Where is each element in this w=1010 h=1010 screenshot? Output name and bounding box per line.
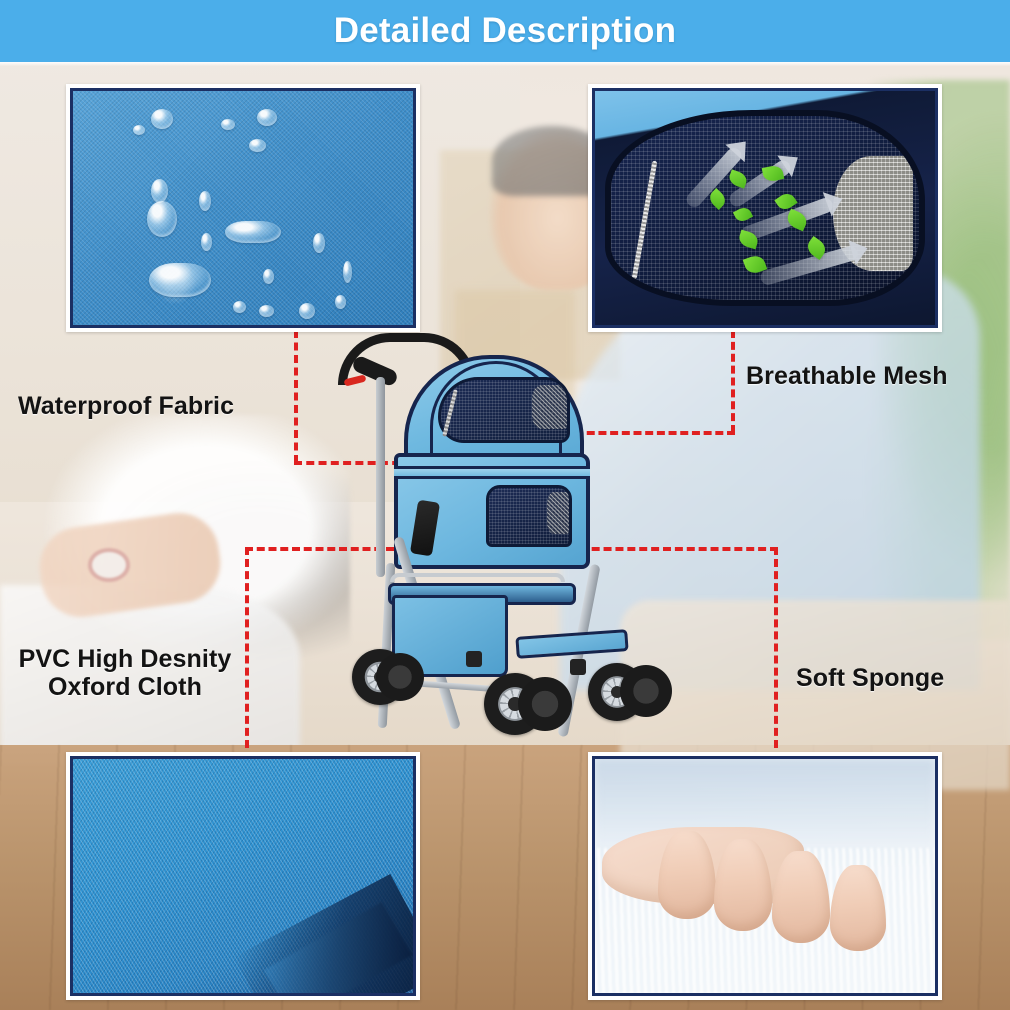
callout-label-soft-sponge: Soft Sponge <box>796 664 944 692</box>
waterproof-fabric-image <box>73 91 413 325</box>
water-droplet <box>343 261 352 283</box>
connector-segment-vertical <box>731 330 735 433</box>
stroller-wheel-front-right-twin <box>620 665 672 717</box>
mesh-highlight <box>532 385 567 429</box>
connector-segment-vertical <box>245 547 249 760</box>
sponge-photo <box>588 752 942 1000</box>
stroller-wheel-rear-left-twin <box>376 653 424 701</box>
stroller-basket-support-bar <box>390 573 565 582</box>
page-title: Detailed Description <box>334 11 676 51</box>
stroller-rear-post <box>376 377 385 577</box>
photo-frame <box>70 88 416 328</box>
header-underline <box>0 62 1010 66</box>
callout-label-line-1: PVC High Desnity <box>10 645 240 673</box>
water-droplet <box>151 109 173 129</box>
header-banner: Detailed Description <box>0 0 1010 62</box>
photo-frame <box>70 756 416 996</box>
water-droplet <box>263 269 274 284</box>
water-droplet <box>225 221 281 243</box>
water-droplet <box>257 109 277 126</box>
oxford-cloth-photo <box>66 752 420 1000</box>
water-droplet <box>335 295 346 309</box>
callout-label-line-2: Oxford Cloth <box>10 673 240 701</box>
breathable-mesh-image <box>595 91 935 325</box>
stroller-wheel-front-left-twin <box>518 677 572 731</box>
water-droplet <box>313 233 325 253</box>
water-droplet <box>299 303 315 319</box>
water-droplet <box>151 179 168 203</box>
fabric-weave-texture <box>73 91 413 325</box>
mesh-panel <box>605 110 925 307</box>
stroller-top-mesh-window <box>438 377 570 443</box>
callout-label-waterproof-fabric: Waterproof Fabric <box>18 392 234 420</box>
water-droplet <box>149 263 211 297</box>
callout-label-breathable-mesh: Breathable Mesh <box>746 362 948 390</box>
oxford-cloth-image <box>73 759 413 993</box>
photo-frame <box>592 88 938 328</box>
background-wristwatch <box>88 548 130 582</box>
infographic-page: Detailed Description <box>0 0 1010 1010</box>
finger <box>772 851 830 943</box>
stroller-caster-front <box>466 651 482 667</box>
callout-label-pvc-oxford-cloth: PVC High Desnity Oxford Cloth <box>10 645 240 701</box>
stroller-footrest <box>515 629 628 659</box>
connector-segment-vertical <box>294 330 298 463</box>
water-droplet <box>147 201 177 237</box>
water-droplet <box>221 119 235 130</box>
stroller-side-mesh-window <box>486 485 572 547</box>
finger <box>830 865 886 951</box>
photo-frame <box>592 756 938 996</box>
water-droplet <box>133 125 145 135</box>
water-droplet <box>201 233 212 251</box>
stroller-caster-rear <box>570 659 586 675</box>
water-droplet <box>249 139 266 152</box>
breathable-mesh-photo <box>588 84 942 332</box>
water-droplet <box>259 305 274 317</box>
water-droplet <box>233 301 246 313</box>
mesh-highlight <box>547 492 569 533</box>
soft-sponge-image <box>595 759 935 993</box>
stroller-cabin-belt <box>394 466 590 479</box>
product-image-pet-stroller <box>330 333 682 755</box>
connector-segment-vertical <box>774 547 778 760</box>
water-droplet <box>199 191 211 211</box>
hand-pressing <box>602 825 928 933</box>
waterproof-fabric-photo <box>66 84 420 332</box>
